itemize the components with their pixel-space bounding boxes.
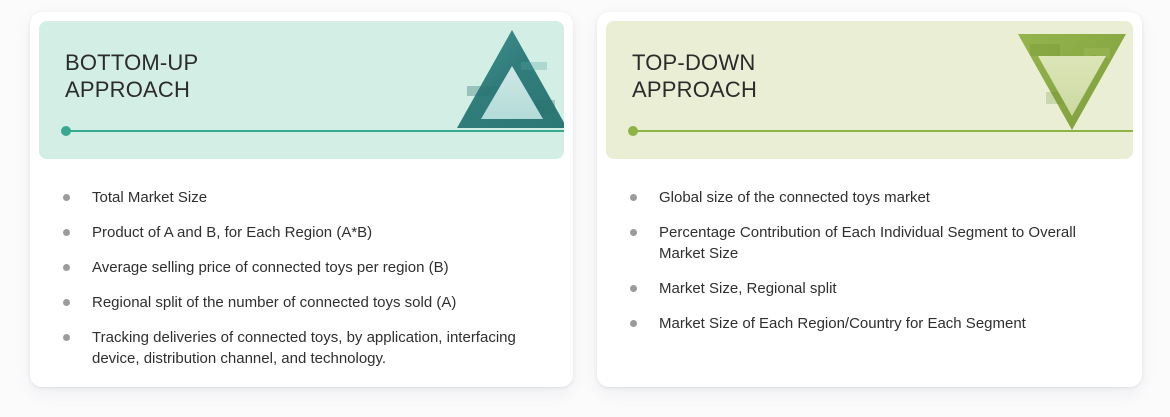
accent-rule-bottom-up — [65, 130, 564, 132]
triangle-down-icon — [1016, 32, 1128, 132]
list-item: Market Size, Regional split — [627, 278, 1112, 299]
bullet-dot-icon — [63, 299, 70, 306]
accent-line — [70, 130, 564, 132]
bullet-list-top-down: Global size of the connected toys market… — [627, 187, 1112, 334]
list-item: Product of A and B, for Each Region (A*B… — [60, 222, 543, 243]
bullet-dot-icon — [630, 194, 637, 201]
list-item: Percentage Contribution of Each Individu… — [627, 222, 1112, 264]
card-top-down-approach: TOP-DOWN APPROACH — [597, 12, 1142, 387]
list-item: Average selling price of connected toys … — [60, 257, 543, 278]
card-body-bottom-up: Total Market Size Product of A and B, fo… — [30, 159, 573, 387]
bullet-dot-icon — [630, 285, 637, 292]
bullet-dot-icon — [63, 264, 70, 271]
bullet-dot-icon — [63, 229, 70, 236]
approach-comparison-board: BOTTOM-UP APPROACH — [0, 0, 1170, 417]
accent-rule-top-down — [632, 130, 1133, 132]
card-header-top-down: TOP-DOWN APPROACH — [606, 21, 1133, 159]
list-item: Total Market Size — [60, 187, 543, 208]
card-bottom-up-approach: BOTTOM-UP APPROACH — [30, 12, 573, 387]
card-header-bottom-up: BOTTOM-UP APPROACH — [39, 21, 564, 159]
bullet-dot-icon — [63, 194, 70, 201]
bullet-dot-icon — [630, 229, 637, 236]
list-item-label: Global size of the connected toys market — [659, 189, 930, 206]
list-item-label: Percentage Contribution of Each Individu… — [659, 224, 1076, 262]
page-title-top-down: TOP-DOWN APPROACH — [632, 49, 757, 103]
bullet-dot-icon — [63, 334, 70, 341]
list-item: Market Size of Each Region/Country for E… — [627, 313, 1112, 334]
list-item-label: Tracking deliveries of connected toys, b… — [92, 329, 516, 367]
list-item-label: Market Size of Each Region/Country for E… — [659, 315, 1026, 332]
bullet-dot-icon — [630, 320, 637, 327]
list-item: Global size of the connected toys market — [627, 187, 1112, 208]
card-body-top-down: Global size of the connected toys market… — [597, 159, 1142, 387]
accent-line — [637, 130, 1133, 132]
list-item-label: Regional split of the number of connecte… — [92, 294, 456, 311]
list-item-label: Market Size, Regional split — [659, 280, 837, 297]
page-title-bottom-up: BOTTOM-UP APPROACH — [65, 49, 198, 103]
bullet-list-bottom-up: Total Market Size Product of A and B, fo… — [60, 187, 543, 369]
list-item: Regional split of the number of connecte… — [60, 292, 543, 313]
list-item-label: Average selling price of connected toys … — [92, 259, 449, 276]
triangle-up-icon — [455, 28, 564, 130]
list-item-label: Product of A and B, for Each Region (A*B… — [92, 224, 372, 241]
list-item: Tracking deliveries of connected toys, b… — [60, 327, 543, 369]
list-item-label: Total Market Size — [92, 189, 207, 206]
